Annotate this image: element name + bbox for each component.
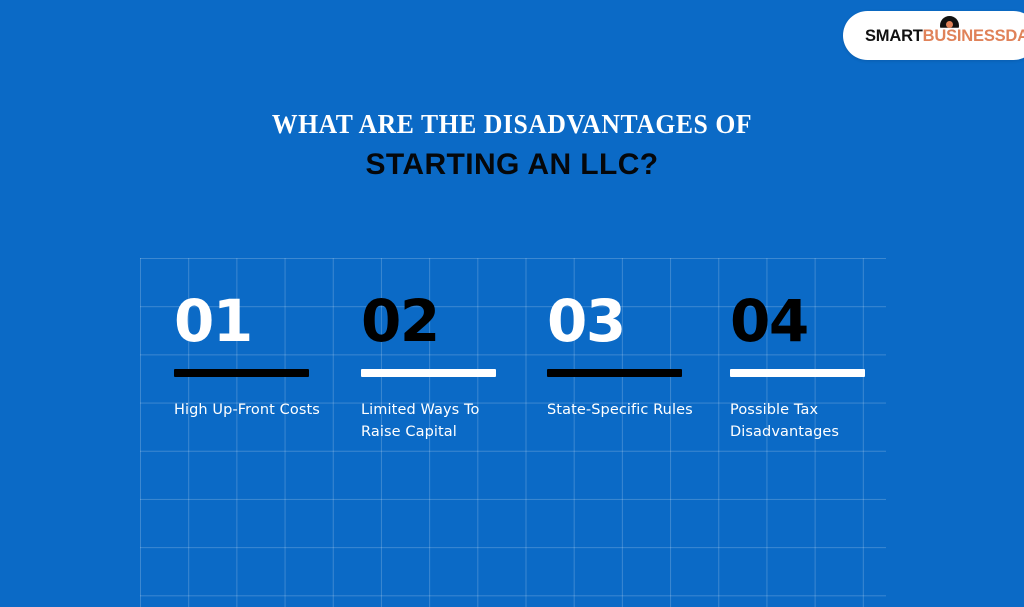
page-title: WHAT ARE THE DISADVANTAGES OF STARTING A… bbox=[0, 108, 1024, 182]
disadvantages-list: 01 High Up-Front Costs 02 Limited Ways T… bbox=[174, 292, 934, 472]
list-item-caption: State-Specific Rules bbox=[547, 399, 707, 421]
brand-wordmark-part-2: BUSINESSDAILY bbox=[923, 27, 1024, 45]
brand-wordmark-part-1: SMART bbox=[865, 27, 923, 45]
list-item: 01 High Up-Front Costs bbox=[174, 292, 344, 421]
list-item-number: 04 bbox=[730, 292, 900, 354]
list-item-underline bbox=[730, 369, 865, 377]
list-item-number: 02 bbox=[361, 292, 531, 354]
list-item: 03 State-Specific Rules bbox=[547, 292, 717, 421]
page-title-line-2: STARTING AN LLC? bbox=[0, 148, 1024, 182]
list-item-caption: High Up-Front Costs bbox=[174, 399, 334, 421]
list-item-caption: Possible Tax Disadvantages bbox=[730, 399, 890, 443]
list-item: 02 Limited Ways To Raise Capital bbox=[361, 292, 531, 443]
list-item: 04 Possible Tax Disadvantages bbox=[730, 292, 900, 443]
infographic-canvas: SMARTBUSINESSDAILY WHAT ARE THE DISADVAN… bbox=[0, 0, 1024, 607]
list-item-number: 01 bbox=[174, 292, 344, 354]
page-title-line-1: WHAT ARE THE DISADVANTAGES OF bbox=[26, 108, 999, 140]
brand-logo[interactable]: SMARTBUSINESSDAILY bbox=[843, 11, 1024, 60]
list-item-caption: Limited Ways To Raise Capital bbox=[361, 399, 521, 443]
list-item-underline bbox=[174, 369, 309, 377]
list-item-number: 03 bbox=[547, 292, 717, 354]
list-item-underline bbox=[361, 369, 496, 377]
brand-wordmark: SMARTBUSINESSDAILY bbox=[865, 27, 1024, 45]
list-item-underline bbox=[547, 369, 682, 377]
